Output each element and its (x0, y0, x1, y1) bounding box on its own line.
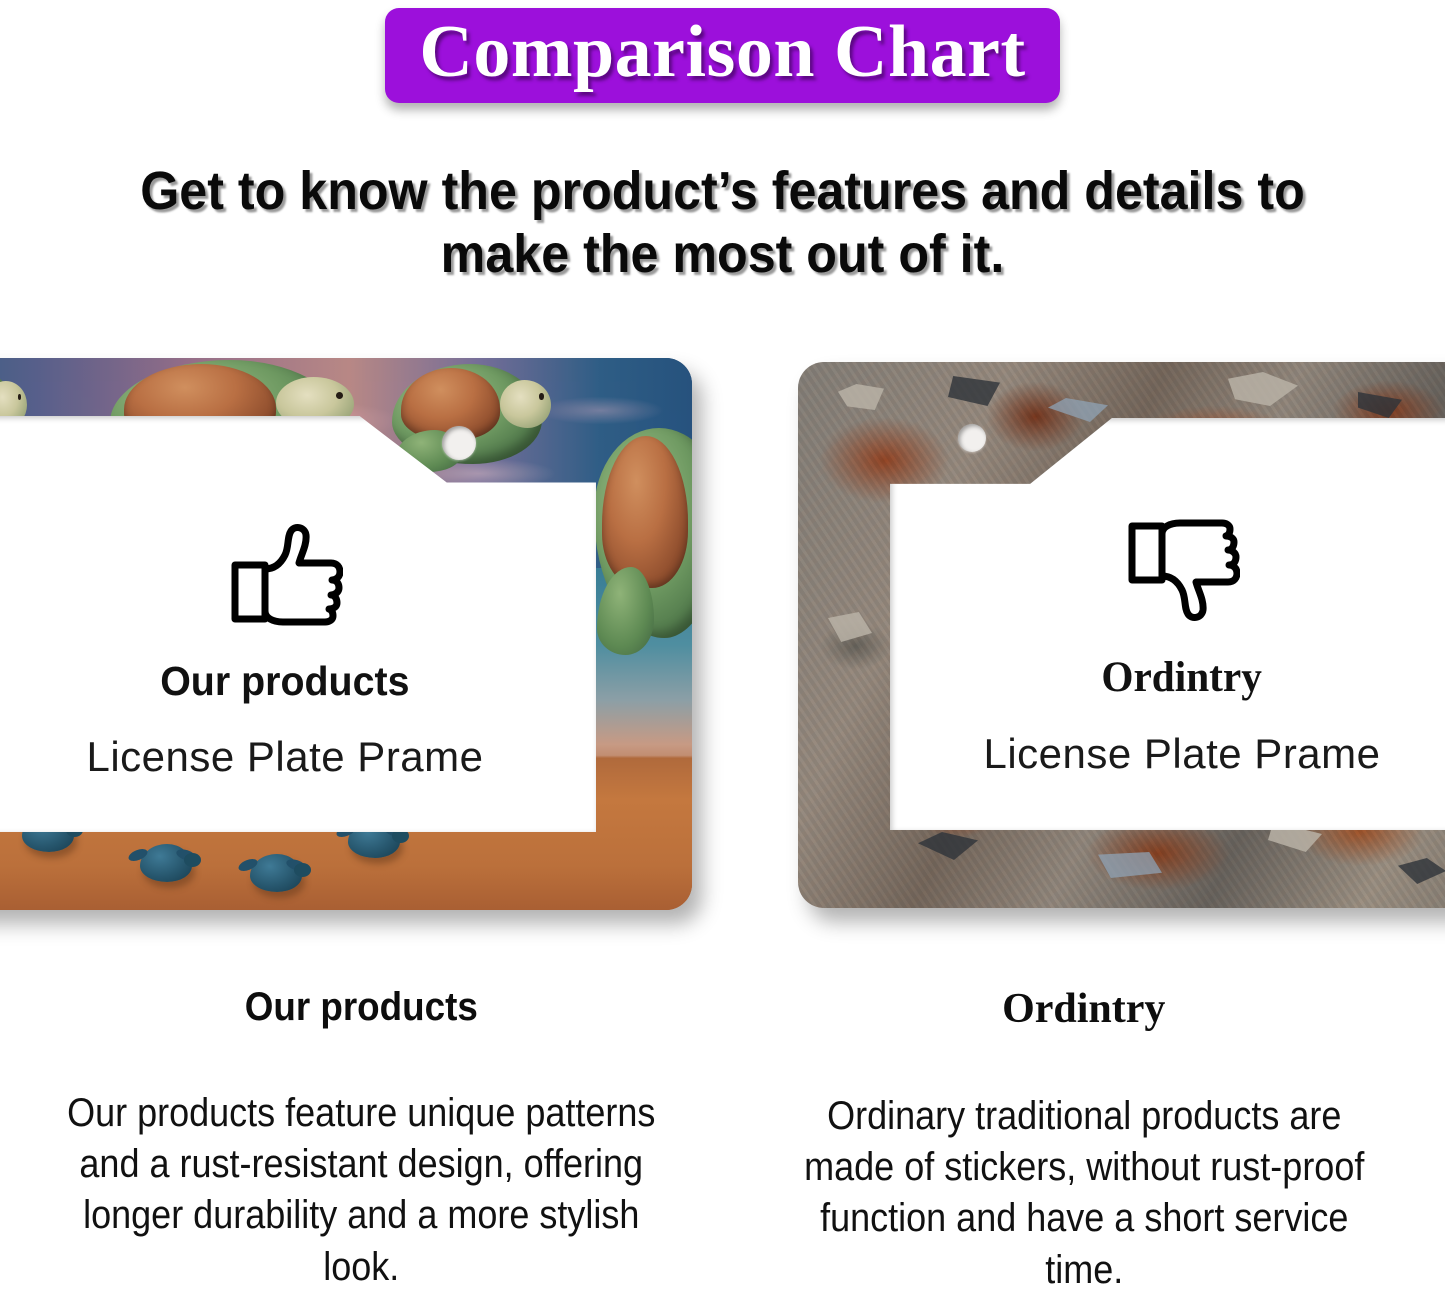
paint-flake (828, 612, 872, 642)
paint-flake (1098, 852, 1162, 878)
frames-row: Our products License Plate Prame (0, 352, 1445, 922)
summary-title-ordinary: Ordintry (757, 985, 1412, 1033)
turtle-shell (602, 436, 688, 587)
turtle-graphic (594, 428, 692, 638)
product-frame-ours[interactable]: Our products License Plate Prame (0, 358, 692, 910)
comparison-chart-page: Comparison Chart Get to know the product… (0, 0, 1445, 1314)
comparison-summary: Our products Our products feature unique… (0, 985, 1445, 1314)
summary-title-ours: Our products (60, 985, 662, 1030)
title-banner-wrap: Comparison Chart (0, 8, 1445, 103)
mounting-hole (958, 424, 986, 452)
paint-flake (1398, 858, 1445, 884)
turtle-flipper (597, 567, 654, 655)
baby-turtle-graphic (250, 854, 302, 892)
paint-flake (838, 384, 884, 410)
product-frame-ordinary[interactable]: Ordintry License Plate Prame (798, 362, 1445, 908)
title-banner: Comparison Chart (385, 8, 1059, 103)
summary-column-ordinary: Ordintry Ordinary traditional products a… (723, 985, 1445, 1314)
page-subtitle: Get to know the product’s features and d… (51, 160, 1395, 286)
page-title: Comparison Chart (419, 14, 1025, 91)
turtle-eye (336, 392, 343, 399)
turtle-eye (18, 394, 22, 400)
paint-flake (1358, 392, 1402, 418)
turtle-eye (539, 393, 544, 399)
summary-body-ours: Our products feature unique patterns and… (67, 1088, 656, 1293)
turtle-head (500, 380, 551, 428)
mounting-hole (442, 426, 476, 460)
baby-turtle-graphic (140, 844, 192, 882)
paint-flake (1228, 372, 1298, 406)
paint-flake (1048, 398, 1108, 422)
summary-column-ours: Our products Our products feature unique… (0, 985, 723, 1314)
paint-flake (918, 832, 978, 860)
paint-flake (948, 376, 1000, 406)
summary-body-ordinary: Ordinary traditional products are made o… (789, 1091, 1378, 1296)
